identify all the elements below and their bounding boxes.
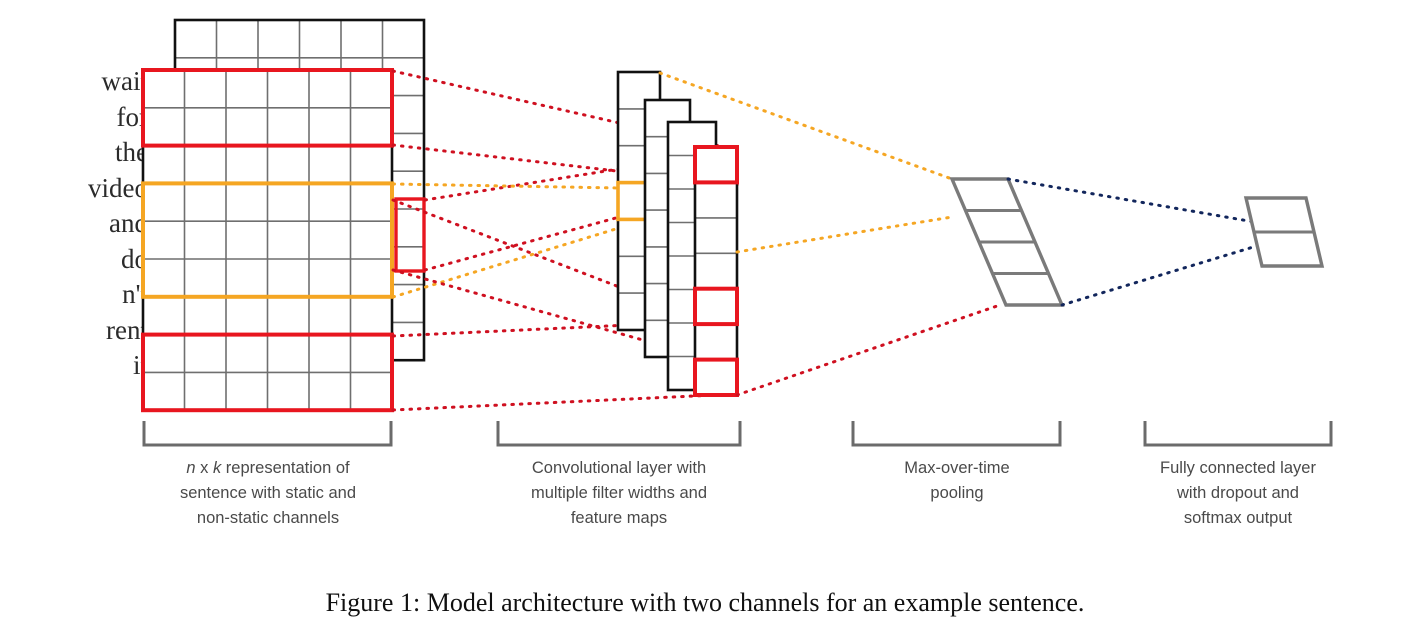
bracket-max-pooling bbox=[853, 421, 1060, 445]
caption-line: pooling bbox=[811, 481, 1103, 506]
caption-convolutional-layer: Convolutional layer with multiple filter… bbox=[473, 456, 765, 531]
caption-input-representation: n x k representation of sentence with st… bbox=[122, 456, 414, 531]
caption-line: with dropout and bbox=[1092, 481, 1384, 506]
caption-fully-connected: Fully connected layer with dropout and s… bbox=[1092, 456, 1384, 531]
max-pooling-layer bbox=[952, 179, 1062, 305]
caption-line: Convolutional layer with bbox=[473, 456, 765, 481]
stage-brackets bbox=[144, 421, 1331, 445]
bracket-fully-connected bbox=[1145, 421, 1331, 445]
input-matrix-front-channel bbox=[143, 70, 392, 410]
caption-line: feature maps bbox=[473, 506, 765, 531]
caption-x: x bbox=[196, 459, 213, 477]
caption-italic-n: n bbox=[186, 459, 195, 477]
conv-feature-map-column-4 bbox=[695, 147, 737, 395]
caption-line: sentence with static and bbox=[122, 481, 414, 506]
architecture-diagram bbox=[0, 0, 1410, 642]
caption-line: softmax output bbox=[1092, 506, 1384, 531]
caption-max-pooling: Max-over-time pooling bbox=[811, 456, 1103, 506]
caption-line: non-static channels bbox=[122, 506, 414, 531]
caption-line: Fully connected layer bbox=[1092, 456, 1384, 481]
figure-caption: Figure 1: Model architecture with two ch… bbox=[0, 588, 1410, 618]
caption-rest: representation of bbox=[221, 459, 349, 477]
figure-root: wait for the video and do n't rent it bbox=[0, 0, 1410, 642]
caption-line: Max-over-time bbox=[811, 456, 1103, 481]
caption-line: multiple filter widths and bbox=[473, 481, 765, 506]
bracket-convolutional-layer bbox=[498, 421, 740, 445]
caption-italic-k: k bbox=[213, 459, 221, 477]
bracket-input-representation bbox=[144, 421, 391, 445]
caption-line: n x k representation of bbox=[122, 456, 414, 481]
fully-connected-layer bbox=[1246, 198, 1322, 266]
